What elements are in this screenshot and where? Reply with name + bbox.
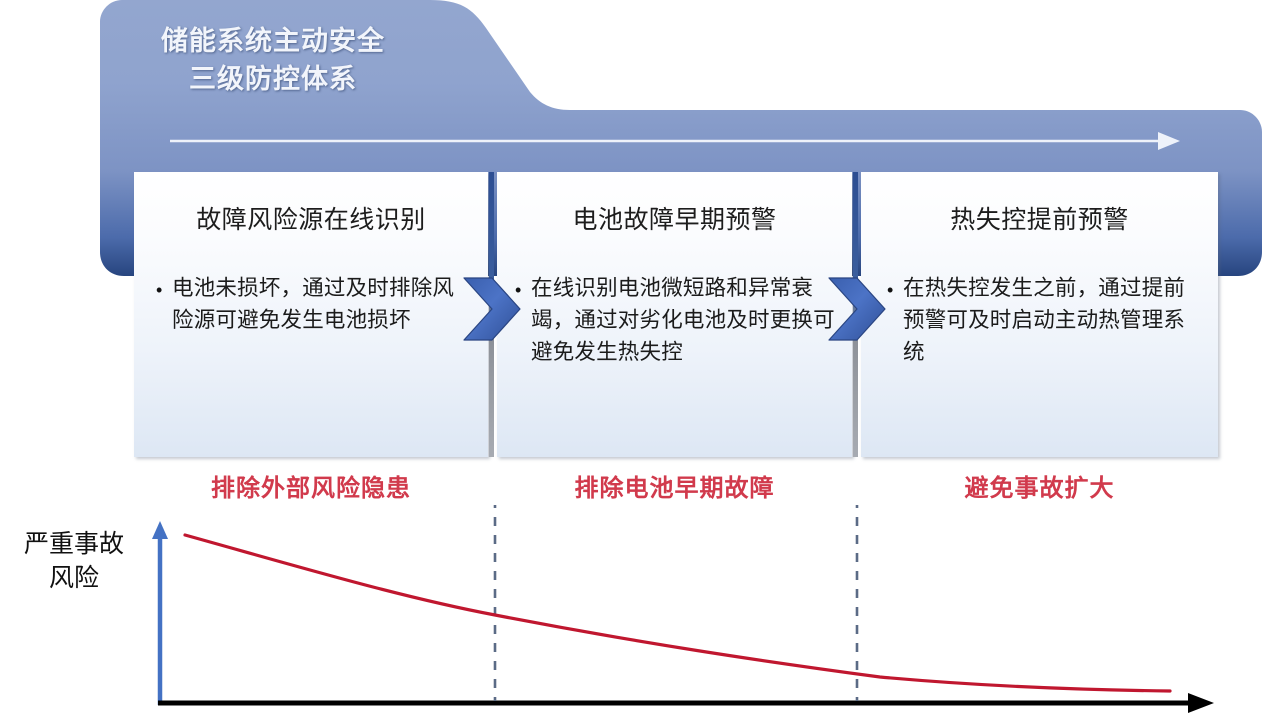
- panel-3-body: • 在热失控发生之前，通过提前预警可及时启动主动热管理系统: [887, 272, 1204, 368]
- stage-caption-3: 避免事故扩大: [861, 468, 1218, 503]
- panel-3-text: 在热失控发生之前，通过提前预警可及时启动主动热管理系统: [903, 272, 1204, 368]
- right-arrow-icon: [170, 126, 1190, 158]
- chevron-right-icon: [827, 276, 887, 342]
- risk-curve: [185, 535, 1170, 691]
- panel-2-text: 在线识别电池微短路和异常衰竭，通过对劣化电池及时更换可避免发生热失控: [531, 272, 840, 368]
- risk-decay-chart: 严重事故 风险: [0, 505, 1269, 721]
- stage-caption-2: 排除电池早期故障: [497, 468, 852, 503]
- slide-canvas: 储能系统主动安全 三级防控体系 故障风险源在线识别 • 电池未损坏，通过及时排除…: [0, 0, 1269, 721]
- panel-3-title: 热失控提前预警: [861, 200, 1218, 236]
- stage-panel-1[interactable]: 故障风险源在线识别 • 电池未损坏，通过及时排除风险源可避免发生电池损坏: [134, 172, 488, 457]
- panel-1-title: 故障风险源在线识别: [134, 200, 488, 236]
- bullet-icon: •: [887, 281, 903, 299]
- stage-panel-3[interactable]: 热失控提前预警 • 在热失控发生之前，通过提前预警可及时启动主动热管理系统: [861, 172, 1218, 457]
- panel-1-text: 电池未损坏，通过及时排除风险源可避免发生电池损坏: [172, 272, 472, 336]
- panel-2-body: • 在线识别电池微短路和异常衰竭，通过对劣化电池及时更换可避免发生热失控: [515, 272, 840, 368]
- bullet-icon: •: [156, 281, 172, 299]
- panel-2-title: 电池故障早期预警: [497, 200, 852, 236]
- stage-panel-2[interactable]: 电池故障早期预警 • 在线识别电池微短路和异常衰竭，通过对劣化电池及时更换可避免…: [497, 172, 852, 457]
- stage-caption-1: 排除外部风险隐患: [134, 468, 488, 503]
- page-title: 储能系统主动安全 三级防控体系: [118, 22, 428, 98]
- chevron-right-icon: [462, 276, 522, 342]
- chart-plot: [0, 505, 1269, 721]
- panel-1-body: • 电池未损坏，通过及时排除风险源可避免发生电池损坏: [156, 272, 472, 336]
